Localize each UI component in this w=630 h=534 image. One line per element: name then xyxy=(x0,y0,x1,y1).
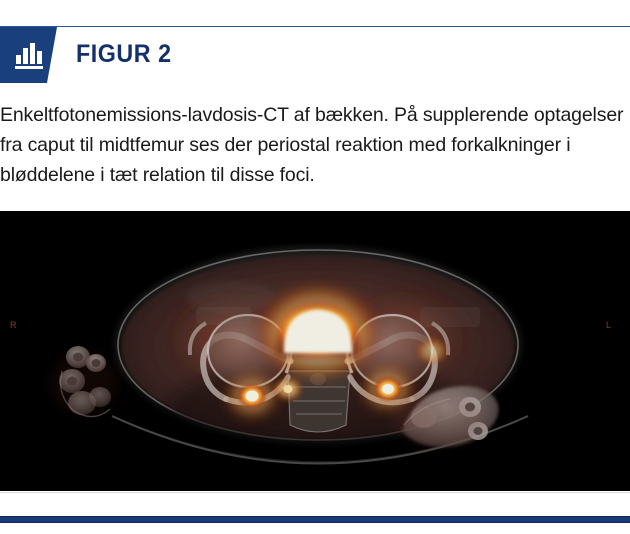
figure-caption: Enkeltfotonemissions-lavdosis-CT af bækk… xyxy=(0,100,626,190)
spect-ct-fusion-image xyxy=(0,211,630,491)
figure-header: FIGUR 2 xyxy=(0,27,630,83)
page-title: FIGUR 2 xyxy=(76,40,172,69)
figure-page: FIGUR 2 Enkeltfotonemissions-lavdosis-CT… xyxy=(0,0,630,534)
image-bottom-rule xyxy=(0,492,630,493)
header-slant-divider xyxy=(56,27,74,83)
orientation-marker-right: R xyxy=(10,321,17,330)
footer-accent-bar xyxy=(0,516,630,523)
figure-image-panel: R L xyxy=(0,211,630,491)
bar-chart-icon xyxy=(14,40,44,70)
orientation-marker-left: L xyxy=(606,321,611,330)
